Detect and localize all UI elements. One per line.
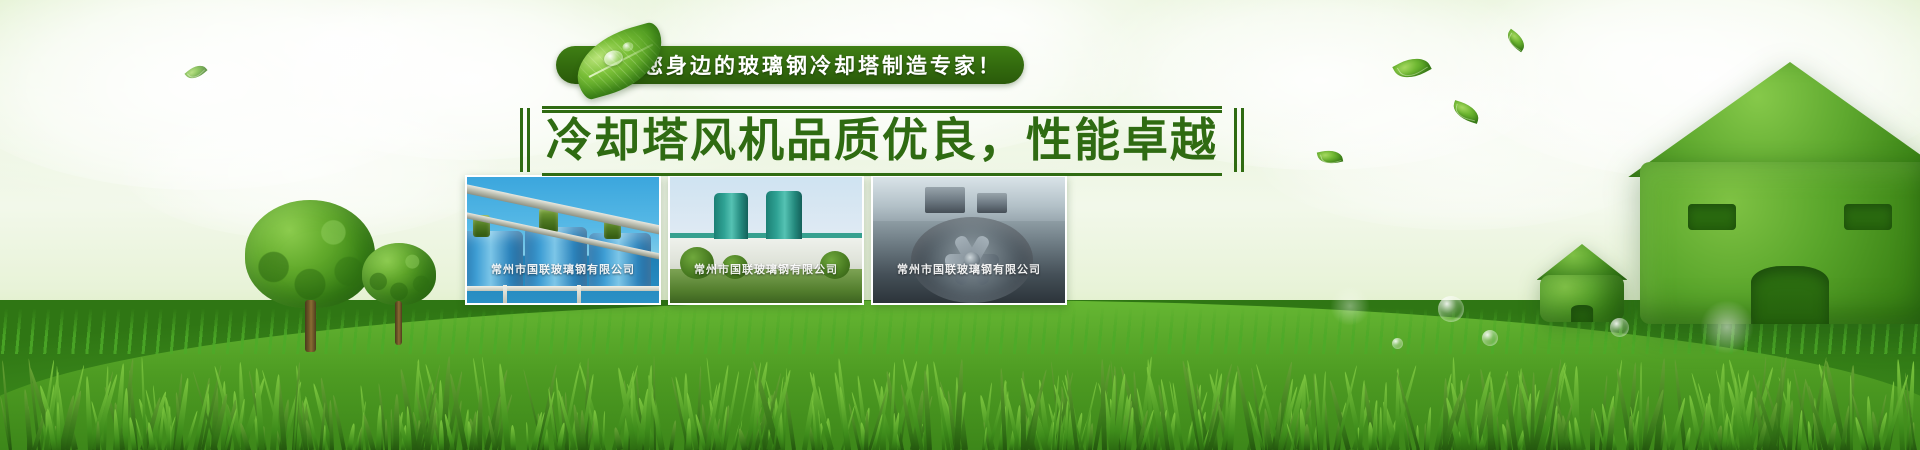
bubble-icon — [1392, 338, 1403, 349]
photo-watermark: 常州市国联玻璃钢有限公司 — [873, 261, 1065, 277]
photo-watermark: 常州市国联玻璃钢有限公司 — [670, 261, 862, 277]
sparkle-icon — [1700, 300, 1754, 354]
bubble-icon — [1438, 296, 1464, 322]
railing — [467, 286, 661, 291]
equipment-box — [925, 187, 965, 213]
railing-post — [503, 285, 507, 303]
cooling-tower — [465, 231, 523, 287]
sparkle-icon — [1330, 286, 1370, 326]
headline-bottom-rule — [542, 173, 1222, 176]
grass-blade — [669, 420, 678, 450]
tagline-pill: 您身边的玻璃钢冷却塔制造专家！ — [556, 46, 1024, 84]
photo-watermark: 常州市国联玻璃钢有限公司 — [467, 261, 659, 277]
grass-blade — [1806, 421, 1812, 450]
house-door — [1571, 305, 1593, 322]
headline-left-bar — [520, 108, 530, 172]
house-window — [1688, 204, 1736, 230]
product-photo[interactable]: 常州市国联玻璃钢有限公司 — [465, 175, 661, 305]
headline-top-rule — [542, 106, 1222, 113]
grass-blade — [1304, 424, 1310, 450]
grass-blade — [1684, 427, 1692, 450]
grass-blade — [1382, 382, 1388, 450]
railing-post — [577, 285, 581, 303]
grass-blade — [526, 422, 530, 450]
grass-blade — [1379, 406, 1382, 450]
bubble-icon — [1610, 318, 1629, 337]
tagline: 您身边的玻璃钢冷却塔制造专家！ — [556, 46, 1024, 84]
house-body — [1640, 162, 1920, 324]
house-roof — [1628, 62, 1920, 177]
house-door — [1751, 266, 1829, 324]
promo-banner: 您身边的玻璃钢冷却塔制造专家！ 冷却塔风机品质优良，性能卓越 — [0, 0, 1920, 450]
tree-icon — [245, 200, 375, 350]
tree-trunk — [395, 301, 402, 345]
fan-ring — [911, 217, 1033, 303]
grass-blade — [1639, 362, 1642, 450]
photo-sky — [873, 177, 1065, 221]
headline-text: 冷却塔风机品质优良，性能卓越 — [530, 108, 1234, 172]
tree-canopy — [245, 200, 375, 308]
grass-blade — [385, 419, 388, 450]
grass-blade — [329, 400, 334, 450]
grass-blade — [1797, 410, 1803, 450]
grass-blade — [439, 420, 444, 450]
house-body — [1540, 275, 1624, 322]
product-photo-strip: 常州市国联玻璃钢有限公司 常州市国联玻璃钢有限公司 — [465, 175, 1067, 305]
equipment-box — [977, 193, 1007, 213]
product-photo[interactable]: 常州市国联玻璃钢有限公司 — [871, 175, 1067, 305]
product-photo[interactable]: 常州市国联玻璃钢有限公司 — [668, 175, 864, 305]
grass-blade — [602, 411, 606, 450]
headline: 冷却塔风机品质优良，性能卓越 — [520, 98, 1244, 178]
tree-icon — [362, 243, 436, 348]
tree-canopy — [362, 243, 436, 305]
tree-trunk — [305, 300, 316, 352]
grass-house-small-icon — [1540, 244, 1624, 322]
bubble-icon — [1482, 330, 1498, 346]
house-window — [1844, 204, 1892, 230]
grass-house-icon — [1640, 62, 1920, 324]
headline-right-bar — [1234, 108, 1244, 172]
grass-blade — [96, 421, 100, 450]
grass-blade — [141, 357, 147, 450]
grass-blade — [393, 394, 399, 450]
grass-blade — [1099, 359, 1106, 450]
cooling-tower — [714, 193, 748, 239]
tagline-text: 您身边的玻璃钢冷却塔制造专家！ — [642, 50, 1002, 80]
cooling-tower — [766, 191, 802, 239]
headline-bracket: 冷却塔风机品质优良，性能卓越 — [520, 108, 1244, 172]
grass-blade — [1425, 406, 1432, 450]
